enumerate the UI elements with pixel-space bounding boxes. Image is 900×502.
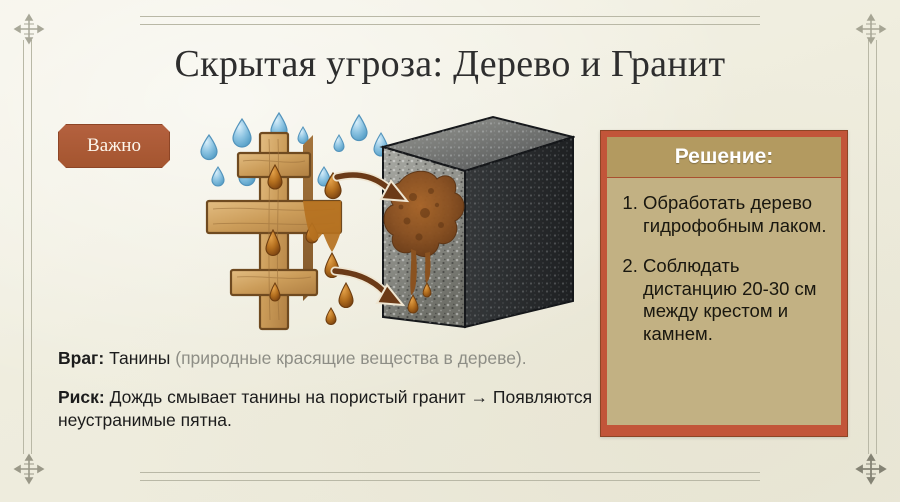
fact-enemy-note: (природные красящие вещества в дереве).	[175, 348, 526, 368]
frame-line-bottom-inner	[140, 472, 760, 473]
fact-risk-text: Дождь смывает танины на пористый гранит …	[58, 387, 592, 430]
page-title: Скрытая угроза: Дерево и Гранит	[0, 42, 900, 86]
frame-line-left-outer	[23, 40, 24, 454]
important-badge-label: Важно	[87, 135, 141, 157]
frame-line-right-inner	[868, 40, 869, 454]
slide-canvas: Скрытая угроза: Дерево и Гранит Важно	[0, 0, 900, 502]
solution-list-item: Обработать дерево гидрофобным лаком.	[643, 192, 831, 237]
frame-line-top-outer	[140, 16, 760, 17]
solution-box: Решение: Обработать дерево гидрофобным л…	[600, 130, 848, 437]
solution-body: Обработать дерево гидрофобным лаком. Соб…	[607, 178, 841, 425]
illustration-cross-and-granite	[185, 105, 575, 350]
solution-header-label: Решение:	[675, 145, 774, 169]
corner-cross-ornament-icon	[854, 12, 888, 46]
facts-block: Враг: Танины (природные красящие веществ…	[58, 347, 598, 432]
frame-line-bottom-outer	[140, 480, 760, 481]
fact-enemy-lead: Враг:	[58, 348, 104, 368]
corner-cross-ornament-icon	[12, 12, 46, 46]
frame-line-top-inner	[140, 24, 760, 25]
corner-cross-ornament-icon	[854, 452, 888, 486]
frame-line-right-outer	[876, 40, 877, 454]
fact-risk: Риск: Дождь смывает танины на пористый г…	[58, 386, 598, 432]
solution-list: Обработать дерево гидрофобным лаком. Соб…	[621, 192, 831, 345]
frame-line-left-inner	[31, 40, 32, 454]
fact-enemy-text: Танины	[109, 348, 175, 368]
solution-header: Решение:	[607, 137, 841, 178]
granite-cube	[383, 117, 573, 327]
orthodox-cross	[207, 133, 353, 329]
corner-cross-ornament-icon	[12, 452, 46, 486]
fact-risk-lead: Риск:	[58, 387, 105, 407]
fact-enemy: Враг: Танины (природные красящие веществ…	[58, 347, 598, 370]
important-badge: Важно	[58, 124, 170, 168]
solution-list-item: Соблюдать дистанцию 20-30 см между крест…	[643, 255, 831, 345]
